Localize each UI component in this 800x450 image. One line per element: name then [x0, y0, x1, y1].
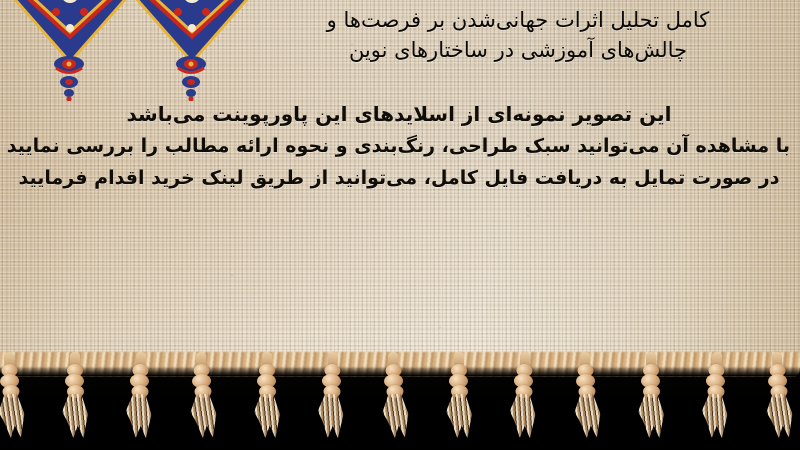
- fringe-skirt: [381, 393, 411, 438]
- fringe-skirt: [765, 393, 795, 438]
- slide-canvas: کامل تحلیل اثرات جهانی‌شدن بر فرصت‌ها و …: [0, 0, 800, 450]
- body-line-1: این تصویر نمونه‌ای از اسلایدهای این پاور…: [8, 104, 790, 137]
- fringe-skirt: [123, 393, 153, 438]
- fringe-tassel: [376, 359, 414, 446]
- persian-pendant-right: [170, 55, 212, 101]
- body-line-2: با مشاهده آن می‌توانید سبک طراحی، رنگ‌بن…: [8, 137, 790, 169]
- pendant-left-icon: [48, 55, 90, 101]
- fringe-tassel: [58, 360, 92, 446]
- pendant-right-icon: [170, 55, 212, 101]
- fringe-tassel: [442, 360, 476, 446]
- slide-body: این تصویر نمونه‌ای از اسلایدهای این پاور…: [8, 104, 790, 188]
- fringe-skirt: [573, 393, 603, 438]
- fringe-tassel: [634, 360, 668, 446]
- fringe-tassel: [0, 359, 30, 446]
- title-line-1: کامل تحلیل اثرات جهانی‌شدن بر فرصت‌ها و: [254, 6, 782, 36]
- persian-pendant-left: [48, 55, 90, 101]
- fringe-skirt: [253, 394, 281, 438]
- fringe-tassel: [696, 359, 734, 446]
- fringe-skirt: [637, 394, 665, 438]
- fringe-tassel: [120, 359, 158, 446]
- fringe-skirt: [61, 394, 89, 438]
- fringe-tassel: [760, 359, 798, 446]
- fringe-skirt: [699, 393, 729, 438]
- body-line-3: در صورت تمایل به دریافت فایل کامل، می‌تو…: [8, 169, 790, 188]
- fringe-skirt: [315, 393, 345, 438]
- fringe-tassel: [568, 359, 606, 446]
- fringe-tassel: [184, 359, 222, 446]
- fringe-tassel: [504, 359, 542, 446]
- fringe-skirt: [0, 393, 27, 438]
- fringe-tassel: [312, 359, 350, 446]
- fringe-skirt: [507, 393, 537, 438]
- fringe-tassel: [250, 360, 284, 446]
- slide-title: کامل تحلیل اثرات جهانی‌شدن بر فرصت‌ها و …: [254, 6, 782, 66]
- fringe-skirt: [189, 393, 219, 438]
- carpet-fringe-tassels: [0, 360, 800, 450]
- title-line-2: چالش‌های آموزشی در ساختارهای نوین: [254, 36, 782, 66]
- fringe-skirt: [445, 394, 473, 438]
